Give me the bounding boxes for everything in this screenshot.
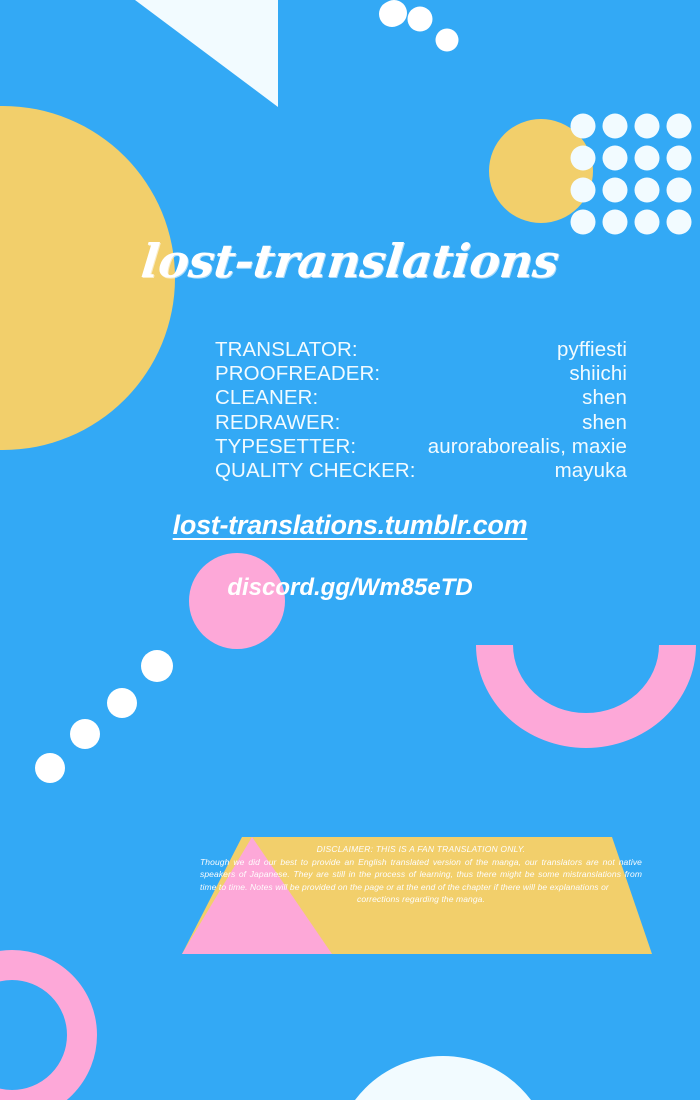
credit-name: shen [582,386,627,410]
credit-row: TRANSLATOR: pyffiesti [215,338,627,362]
credit-role: TRANSLATOR: [215,338,358,362]
tumblr-link[interactable]: lost-translations.tumblr.com [173,510,528,541]
credit-name: shiichi [569,362,627,386]
links-block: lost-translations.tumblr.com discord.gg/… [0,510,700,602]
credit-role: REDRAWER: [215,411,340,435]
credit-row: CLEANER: shen [215,386,627,410]
credit-row: QUALITY CHECKER: mayuka [215,459,627,483]
credit-role: PROOFREADER: [215,362,380,386]
credit-name: mayuka [555,459,627,483]
disclaimer-body: Though we did our best to provide an Eng… [200,856,642,894]
credit-row: REDRAWER: shen [215,411,627,435]
site-logo: lost-translations [0,238,700,284]
disclaimer-panel: DISCLAIMER: THIS IS A FAN TRANSLATION ON… [182,837,652,954]
credit-name: shen [582,411,627,435]
credit-role: CLEANER: [215,386,318,410]
credit-role: QUALITY CHECKER: [215,459,416,483]
discord-link[interactable]: discord.gg/Wm85eTD [0,574,700,602]
credit-role: TYPESETTER: [215,435,356,459]
credit-name: pyffiesti [557,338,627,362]
disclaimer-last-line: corrections regarding the manga. [200,893,642,906]
credit-name: auroraborealis, maxie [428,435,627,459]
credits-page: lost-translations TRANSLATOR: pyffiesti … [0,0,700,1100]
credit-row: PROOFREADER: shiichi [215,362,627,386]
credits-list: TRANSLATOR: pyffiesti PROOFREADER: shiic… [215,338,627,483]
disclaimer-title: DISCLAIMER: THIS IS A FAN TRANSLATION ON… [200,843,642,856]
disclaimer-text: DISCLAIMER: THIS IS A FAN TRANSLATION ON… [200,843,642,906]
credit-row: TYPESETTER: auroraborealis, maxie [215,435,627,459]
